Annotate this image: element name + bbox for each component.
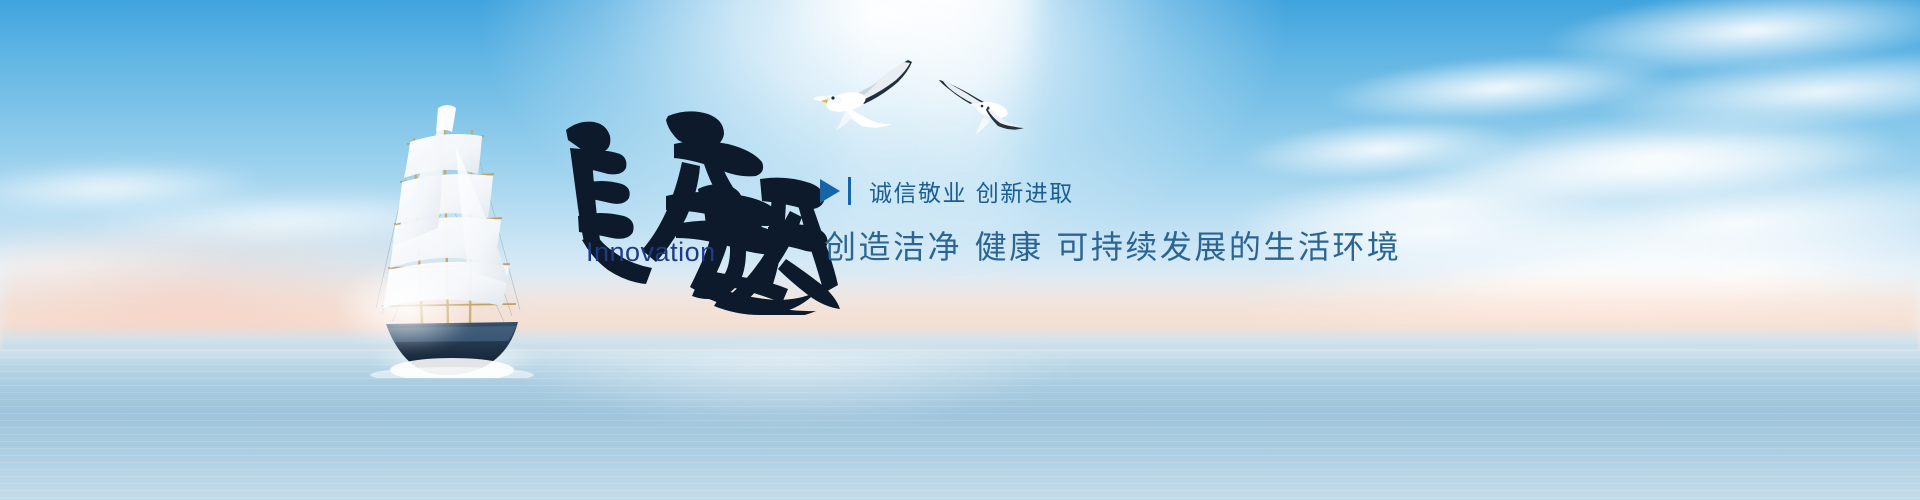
slogan-row-primary: 诚信敬业 创新进取 [820,174,1401,208]
slogan-block: 诚信敬业 创新进取 创造洁净 健康 可持续发展的生活环境 [820,174,1401,268]
divider-bar-icon [848,177,851,205]
innovation-subtitle: Innovation [586,237,716,268]
horizon-line [0,324,1920,350]
seagull-icon [936,68,1026,138]
seagull-icon [812,52,924,138]
play-triangle-icon [820,179,840,203]
slogan-line-1: 诚信敬业 创新进取 [869,174,1074,208]
slogan-line-2: 创造洁净 健康 可持续发展的生活环境 [824,222,1401,268]
hero-banner: Innovation 诚信敬业 创新进取 创造洁净 健康 可持续发展的生活环境 [0,0,1920,500]
sailing-ship-icon [352,78,552,378]
